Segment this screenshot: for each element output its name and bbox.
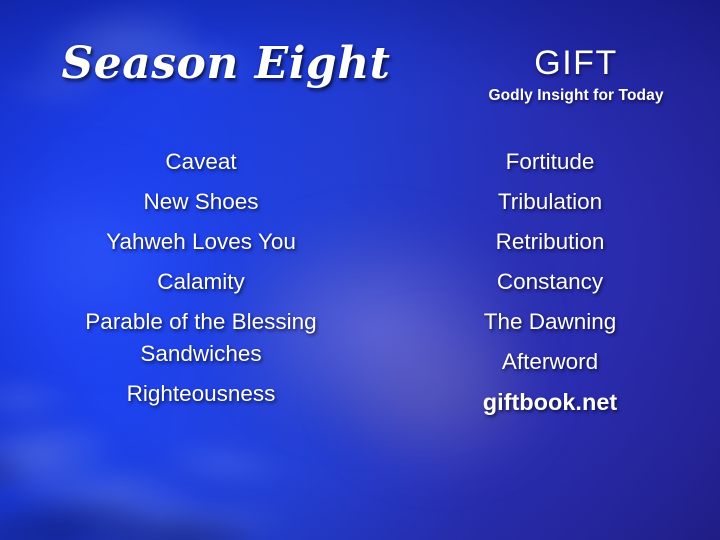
list-item: Tribulation — [392, 182, 708, 222]
list-item: Righteousness — [10, 374, 392, 414]
list-item: Afterword — [392, 342, 708, 382]
gift-tagline: Godly Insight for Today — [432, 87, 720, 105]
season-title: Season Eight — [0, 38, 452, 89]
gift-branding: GIFT Godly Insight for Today — [432, 46, 720, 105]
list-item: Retribution — [392, 222, 708, 262]
list-item: Yahweh Loves You — [10, 222, 392, 262]
list-item: Calamity — [10, 262, 392, 302]
website-link[interactable]: giftbook.net — [392, 382, 708, 422]
episode-list-right-column: Fortitude Tribulation Retribution Consta… — [392, 142, 708, 422]
list-item: Caveat — [10, 142, 392, 182]
list-item: Fortitude — [392, 142, 708, 182]
presentation-slide: Season Eight GIFT Godly Insight for Toda… — [0, 0, 720, 540]
list-item: Parable of the Blessing Sandwiches — [10, 302, 392, 374]
slide-content: Season Eight GIFT Godly Insight for Toda… — [0, 0, 720, 540]
list-item: New Shoes — [10, 182, 392, 222]
episode-list-left-column: Caveat New Shoes Yahweh Loves You Calami… — [10, 142, 392, 414]
list-item: The Dawning — [392, 302, 708, 342]
gift-logo-text: GIFT — [432, 46, 720, 82]
list-item: Constancy — [392, 262, 708, 302]
